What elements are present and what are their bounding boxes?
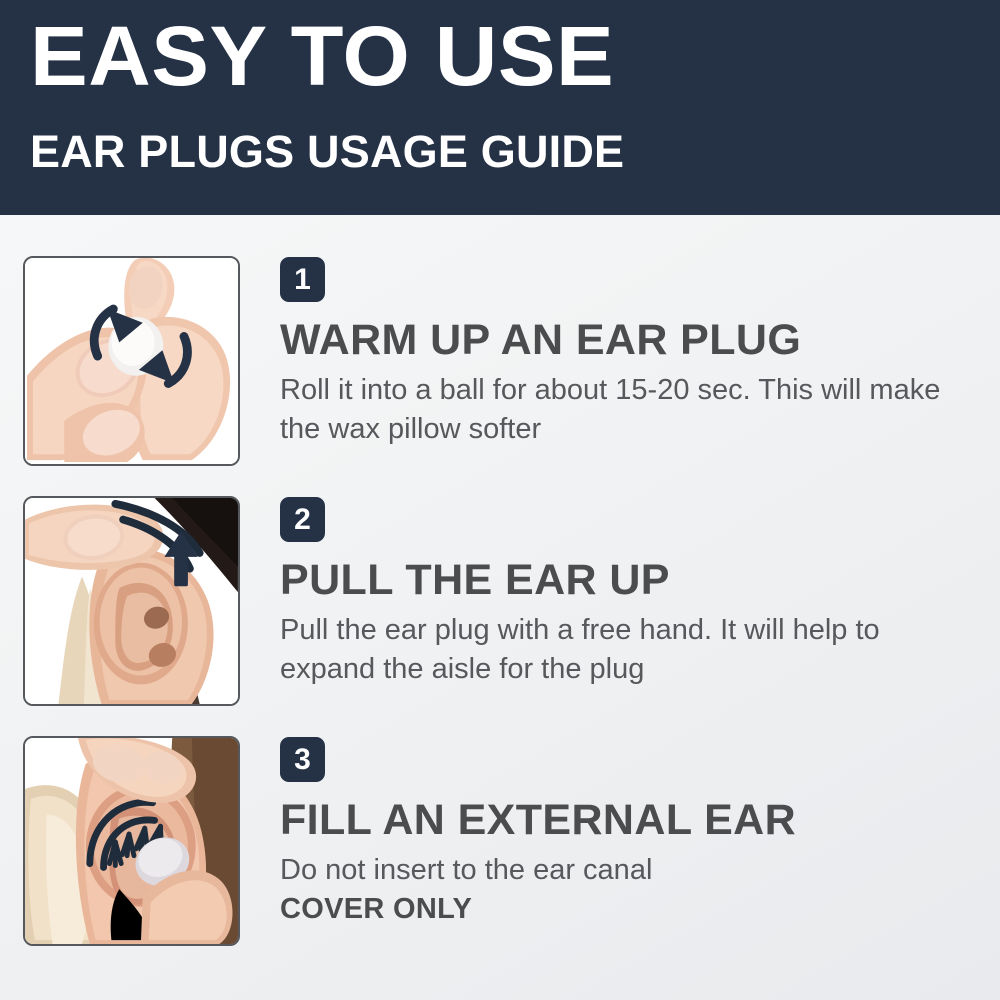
step-1-number-badge: 1: [280, 257, 325, 302]
step-2-content: 2 PULL THE EAR UP Pull the ear plug with…: [280, 481, 970, 721]
page-title: EASY TO USE: [30, 10, 614, 102]
fingers-rolling-ear-plug-illustration: [25, 258, 238, 464]
step-2-description: Pull the ear plug with a free hand. It w…: [280, 614, 880, 685]
placing-plug-in-external-ear-illustration: [25, 738, 238, 944]
steps-list: 1 WARM UP AN EAR PLUG Roll it into a bal…: [0, 215, 1000, 1000]
step-3-thumbnail: [23, 736, 240, 946]
header-banner: EASY TO USE EAR PLUGS USAGE GUIDE: [0, 0, 1000, 215]
step-item: 3 FILL AN EXTERNAL EAR Do not insert to …: [0, 721, 1000, 961]
page-subtitle: EAR PLUGS USAGE GUIDE: [30, 124, 624, 180]
step-1-content: 1 WARM UP AN EAR PLUG Roll it into a bal…: [280, 241, 970, 481]
step-1-description-block: Roll it into a ball for about 15-20 sec.…: [280, 371, 970, 449]
step-3-title: FILL AN EXTERNAL EAR: [280, 795, 796, 845]
step-2-title: PULL THE EAR UP: [280, 555, 670, 605]
step-1-description: Roll it into a ball for about 15-20 sec.…: [280, 374, 940, 445]
step-3-number-badge: 3: [280, 737, 325, 782]
step-3-description: Do not insert to the ear canal: [280, 854, 652, 886]
step-item: 2 PULL THE EAR UP Pull the ear plug with…: [0, 481, 1000, 721]
step-3-description-block: Do not insert to the ear canal COVER ONL…: [280, 851, 970, 929]
step-2-thumbnail: [23, 496, 240, 706]
hand-pulling-ear-up-illustration: [25, 498, 238, 704]
step-3-emphasis: COVER ONLY: [280, 890, 970, 929]
infographic-page: EASY TO USE EAR PLUGS USAGE GUIDE: [0, 0, 1000, 1000]
step-3-content: 3 FILL AN EXTERNAL EAR Do not insert to …: [280, 721, 970, 961]
step-1-title: WARM UP AN EAR PLUG: [280, 315, 801, 365]
step-item: 1 WARM UP AN EAR PLUG Roll it into a bal…: [0, 241, 1000, 481]
step-1-thumbnail: [23, 256, 240, 466]
step-2-number-badge: 2: [280, 497, 325, 542]
step-2-description-block: Pull the ear plug with a free hand. It w…: [280, 611, 970, 689]
